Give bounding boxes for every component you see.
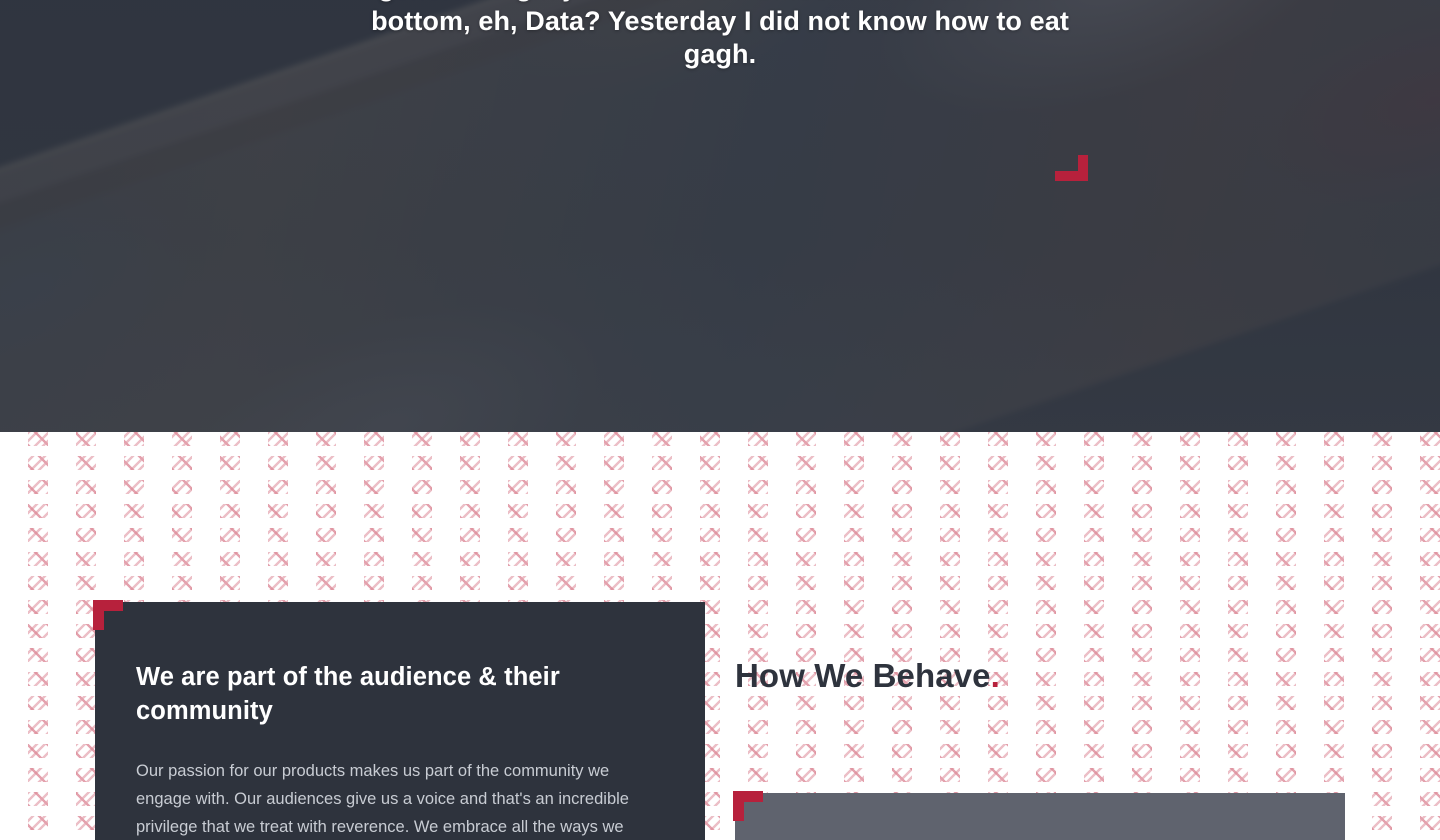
- page-root: about going nowhere fast. This should be…: [0, 0, 1440, 840]
- bracket-horizontal-bar: [1055, 171, 1088, 181]
- hero-content: about going nowhere fast. This should be…: [0, 0, 1440, 432]
- behaviour-gray-card: [735, 793, 1345, 840]
- bracket-horizontal-bar: [93, 600, 123, 611]
- section-heading: How We Behave.: [735, 657, 1000, 695]
- card-paragraph: Our passion for our products makes us pa…: [136, 757, 651, 840]
- main-content: We are part of the audience & their comm…: [0, 432, 1440, 840]
- audience-community-card: We are part of the audience & their comm…: [95, 602, 705, 840]
- hero-section: about going nowhere fast. This should be…: [0, 0, 1440, 432]
- right-column: How We Behave.: [735, 432, 1435, 840]
- hero-corner-bracket-icon: [1055, 155, 1088, 181]
- section-heading-period: .: [991, 657, 1000, 694]
- bracket-horizontal-bar: [733, 791, 763, 802]
- card-title: We are part of the audience & their comm…: [136, 660, 651, 728]
- card-corner-bracket-icon: [733, 791, 763, 821]
- card-body: We are part of the audience & their comm…: [95, 602, 705, 840]
- card-corner-bracket-icon: [93, 600, 123, 630]
- section-heading-text: How We Behave: [735, 657, 991, 694]
- hero-quote-text: about going nowhere fast. This should be…: [370, 0, 1070, 72]
